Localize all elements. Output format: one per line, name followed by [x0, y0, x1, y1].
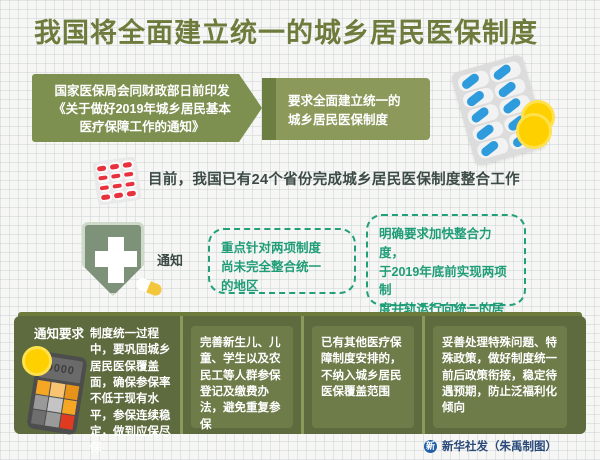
flow-box-policy-issuance-line-1: 国家医保局会同财政部日前印发 [38, 82, 246, 100]
bubble-integration-deadline-line-1: 明确要求加快整合力度， [379, 225, 513, 263]
pill-cell [111, 181, 124, 191]
requirements-column-4-text: 妥善处理特殊问题、特殊政策，做好制度统一前后政策衔接，稳定待遇预期，防止泛福利化… [433, 326, 567, 428]
cross-horizontal-bar [95, 251, 137, 267]
pill-cell [108, 161, 121, 171]
requirements-column-3-text: 已有其他医疗保障制度安排的，不纳入城乡居民医保覆盖范围 [312, 326, 414, 428]
flow-box-requirement: 要求全面建立统一的 城乡居民医保制度 [262, 78, 430, 140]
requirements-panel: 通知要求 0000 制度统一过程中，要巩固城乡居民医保覆盖面，确保参保率不低于现… [14, 316, 586, 434]
pill-cell [123, 169, 136, 179]
pill-cell [112, 190, 125, 200]
statistic-line: 目前，我国已有24个省份完成城乡居民医保制度整合工作 [148, 168, 520, 189]
calculator-key [50, 382, 65, 398]
calculator-key [36, 380, 51, 396]
medical-shield-icon [82, 222, 144, 296]
calculator-key [31, 409, 46, 425]
calculator-key [45, 412, 60, 428]
bubble-target-regions-line-2: 尚未完全整合统一 [221, 258, 343, 277]
xinhua-logo-icon: 新 [424, 440, 437, 453]
bubble-integration-deadline: 明确要求加快整合力度， 于2019年底前实现两项制 度并轨运行向统一的居民 医保… [366, 214, 526, 306]
requirements-column-2: 完善新生儿、儿童、学生以及农民工等人群参保登记及缴费办法，避免重复参保 [183, 316, 301, 434]
requirements-column-4: 妥善处理特殊问题、特殊政策，做好制度统一前后政策衔接，稳定待遇预期，防止泛福利化… [425, 316, 575, 434]
bubble-target-regions: 重点针对两项制度 尚未完全整合统一 的地区 [208, 228, 356, 294]
footer-credit-text: 新华社发（朱禹制图） [442, 438, 557, 454]
pill-cell [121, 160, 134, 170]
flow-box-policy-issuance-line-2: 《关于做好2019年城乡居民基本 [38, 100, 246, 118]
calculator-key [64, 384, 79, 400]
footer-credit: 新 新华社发（朱禹制图） [424, 438, 557, 454]
capsule-icon [135, 277, 164, 298]
flow-box-requirement-line-1: 要求全面建立统一的 [288, 92, 430, 111]
flow-box-policy-issuance: 国家医保局会同财政部日前印发 《关于做好2019年城乡居民基本 医疗保障工作的通… [32, 74, 262, 142]
pill-cell [100, 192, 113, 202]
pill-cell [98, 182, 111, 192]
pill-cell [110, 171, 123, 181]
pill-cell [97, 173, 110, 183]
flow-box-requirement-line-2: 城乡居民医保制度 [288, 111, 430, 130]
flow-box-policy-issuance-line-3: 医疗保障工作的通知》 [38, 118, 246, 136]
calculator-key [62, 399, 77, 415]
red-pill-blister-pack-icon [92, 156, 142, 206]
page-title: 我国将全面建立统一的城乡居民医保制度 [34, 18, 574, 49]
pill-cell [125, 189, 138, 199]
requirements-column-2-text: 完善新生儿、儿童、学生以及农民工等人群参保登记及缴费办法，避免重复参保 [191, 326, 293, 428]
pill-cell [124, 179, 137, 189]
bubble-integration-deadline-line-2: 于2019年底前实现两项制 [379, 263, 513, 301]
notice-label: 通知 [157, 250, 183, 269]
infographic-page: 我国将全面建立统一的城乡居民医保制度 国家医保局会同财政部日前印发 《关于做好2… [0, 0, 600, 460]
requirements-column-3: 已有其他医疗保障制度安排的，不纳入城乡居民医保覆盖范围 [304, 316, 422, 434]
calculator-key [47, 397, 62, 413]
gold-coin-icon [22, 346, 52, 376]
calculator-keys [31, 380, 79, 430]
calculator-key [33, 395, 48, 411]
gold-coin-icon [516, 113, 552, 149]
bubble-target-regions-line-1: 重点针对两项制度 [221, 239, 343, 258]
calculator-key [59, 414, 74, 430]
pill-cell [96, 163, 109, 173]
requirements-column-1: 通知要求 0000 制度统一过程中，要巩固城乡居民医保覆盖面，确保参保率不低于现… [14, 316, 180, 434]
requirements-column-1-text: 制度统一过程中，要巩固城乡居民医保覆盖面，确保参保率不低于现有水平，参保连续稳定… [90, 326, 176, 457]
bubble-target-regions-line-3: 的地区 [221, 277, 343, 296]
requirements-label: 通知要求 [34, 326, 84, 344]
